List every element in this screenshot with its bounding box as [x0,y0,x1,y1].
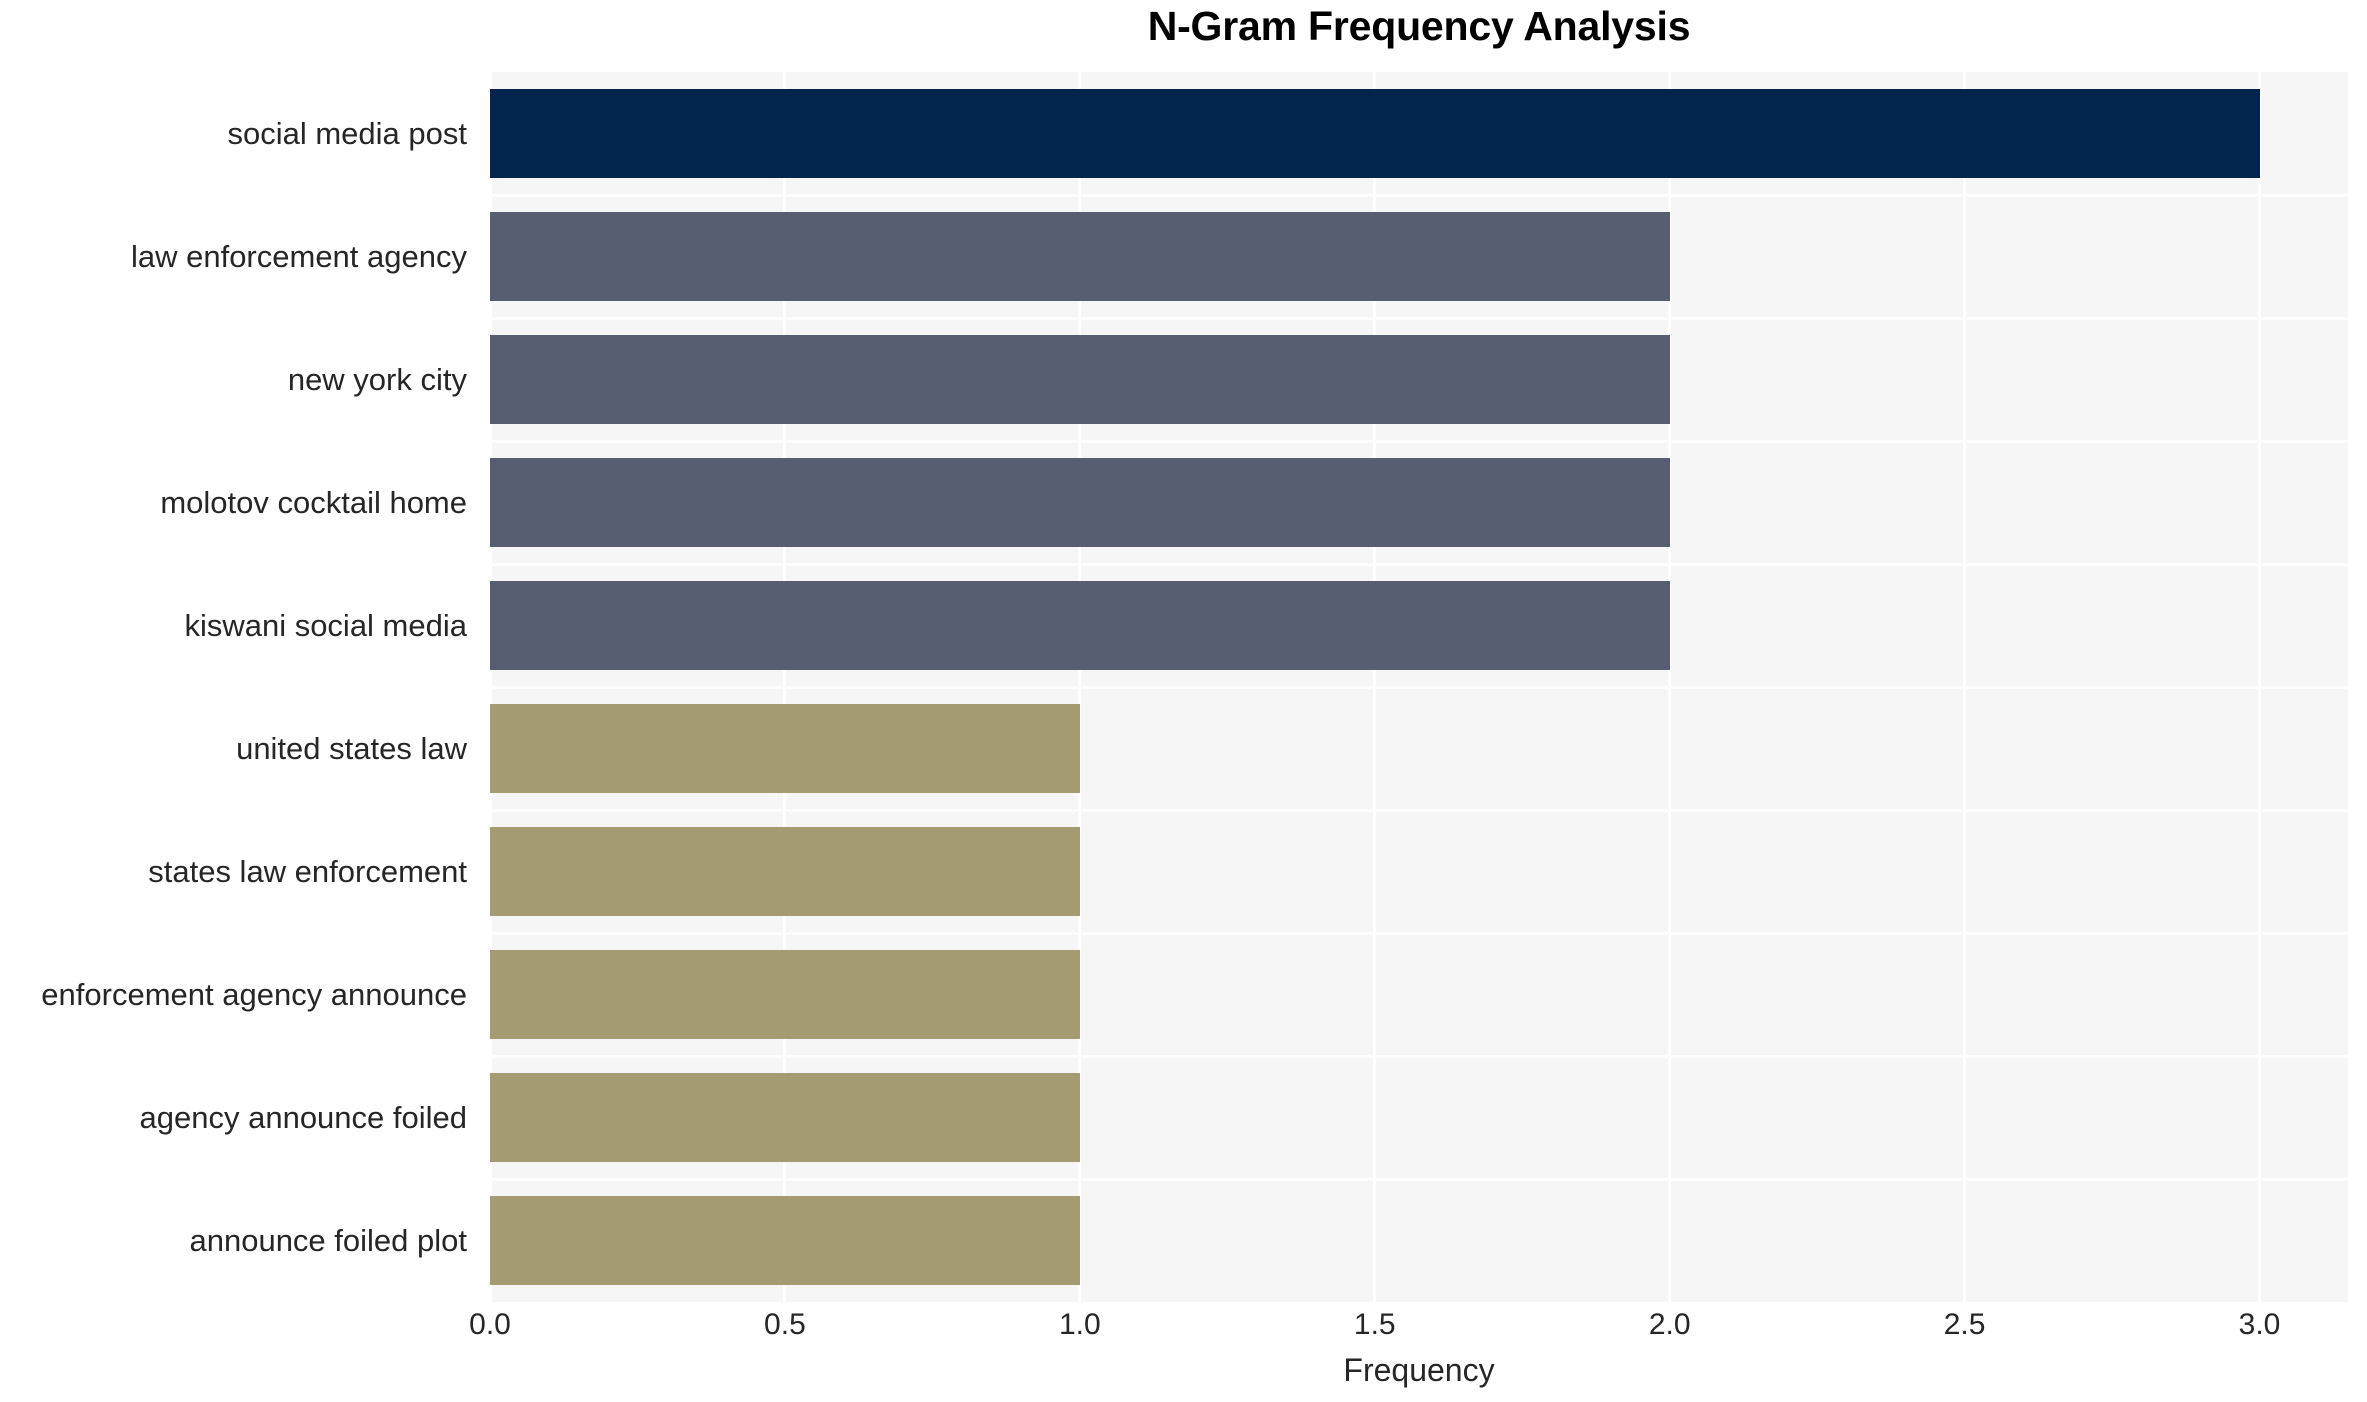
y-axis-label: enforcement agency announce [0,974,474,1016]
bar [490,212,1670,301]
x-axis-tick-label: 1.0 [1059,1308,1101,1342]
x-axis-tick-label: 0.0 [469,1308,511,1342]
bar [490,950,1080,1039]
bar [490,335,1670,424]
bar [490,458,1670,547]
gridline-horizontal [490,194,2348,197]
gridline-horizontal [490,563,2348,566]
y-axis-label: announce foiled plot [0,1220,474,1262]
bar [490,1196,1080,1285]
y-axis-label: molotov cocktail home [0,482,474,524]
chart-figure: N-Gram Frequency Analysis social media p… [0,0,2367,1402]
x-axis-tick-label: 1.5 [1354,1308,1396,1342]
y-axis-label: states law enforcement [0,851,474,893]
y-axis-label: agency announce foiled [0,1097,474,1139]
bar [490,704,1080,793]
chart-title: N-Gram Frequency Analysis [490,0,2348,52]
gridline-horizontal [490,440,2348,443]
gridline-horizontal [490,317,2348,320]
x-axis-tick-label: 2.5 [1944,1308,1986,1342]
x-axis-title: Frequency [490,1352,2348,1389]
plot-area [490,72,2348,1302]
x-axis-tick-label: 2.0 [1649,1308,1691,1342]
gridline-horizontal [490,686,2348,689]
gridline-horizontal [490,1178,2348,1181]
bar [490,827,1080,916]
y-axis-label: united states law [0,728,474,770]
y-axis-label: kiswani social media [0,605,474,647]
bar [490,89,2260,178]
y-axis-label: new york city [0,359,474,401]
bar [490,581,1670,670]
gridline-horizontal [490,1055,2348,1058]
x-axis-tick-labels: 0.00.51.01.52.02.53.0 [490,1308,2348,1354]
gridline-horizontal [490,809,2348,812]
y-axis-label: law enforcement agency [0,236,474,278]
x-axis-tick-label: 0.5 [764,1308,806,1342]
bar [490,1073,1080,1162]
y-axis-label: social media post [0,113,474,155]
y-axis-category-labels: social media postlaw enforcement agencyn… [0,72,474,1302]
gridline-horizontal [490,932,2348,935]
x-axis-tick-label: 3.0 [2239,1308,2281,1342]
